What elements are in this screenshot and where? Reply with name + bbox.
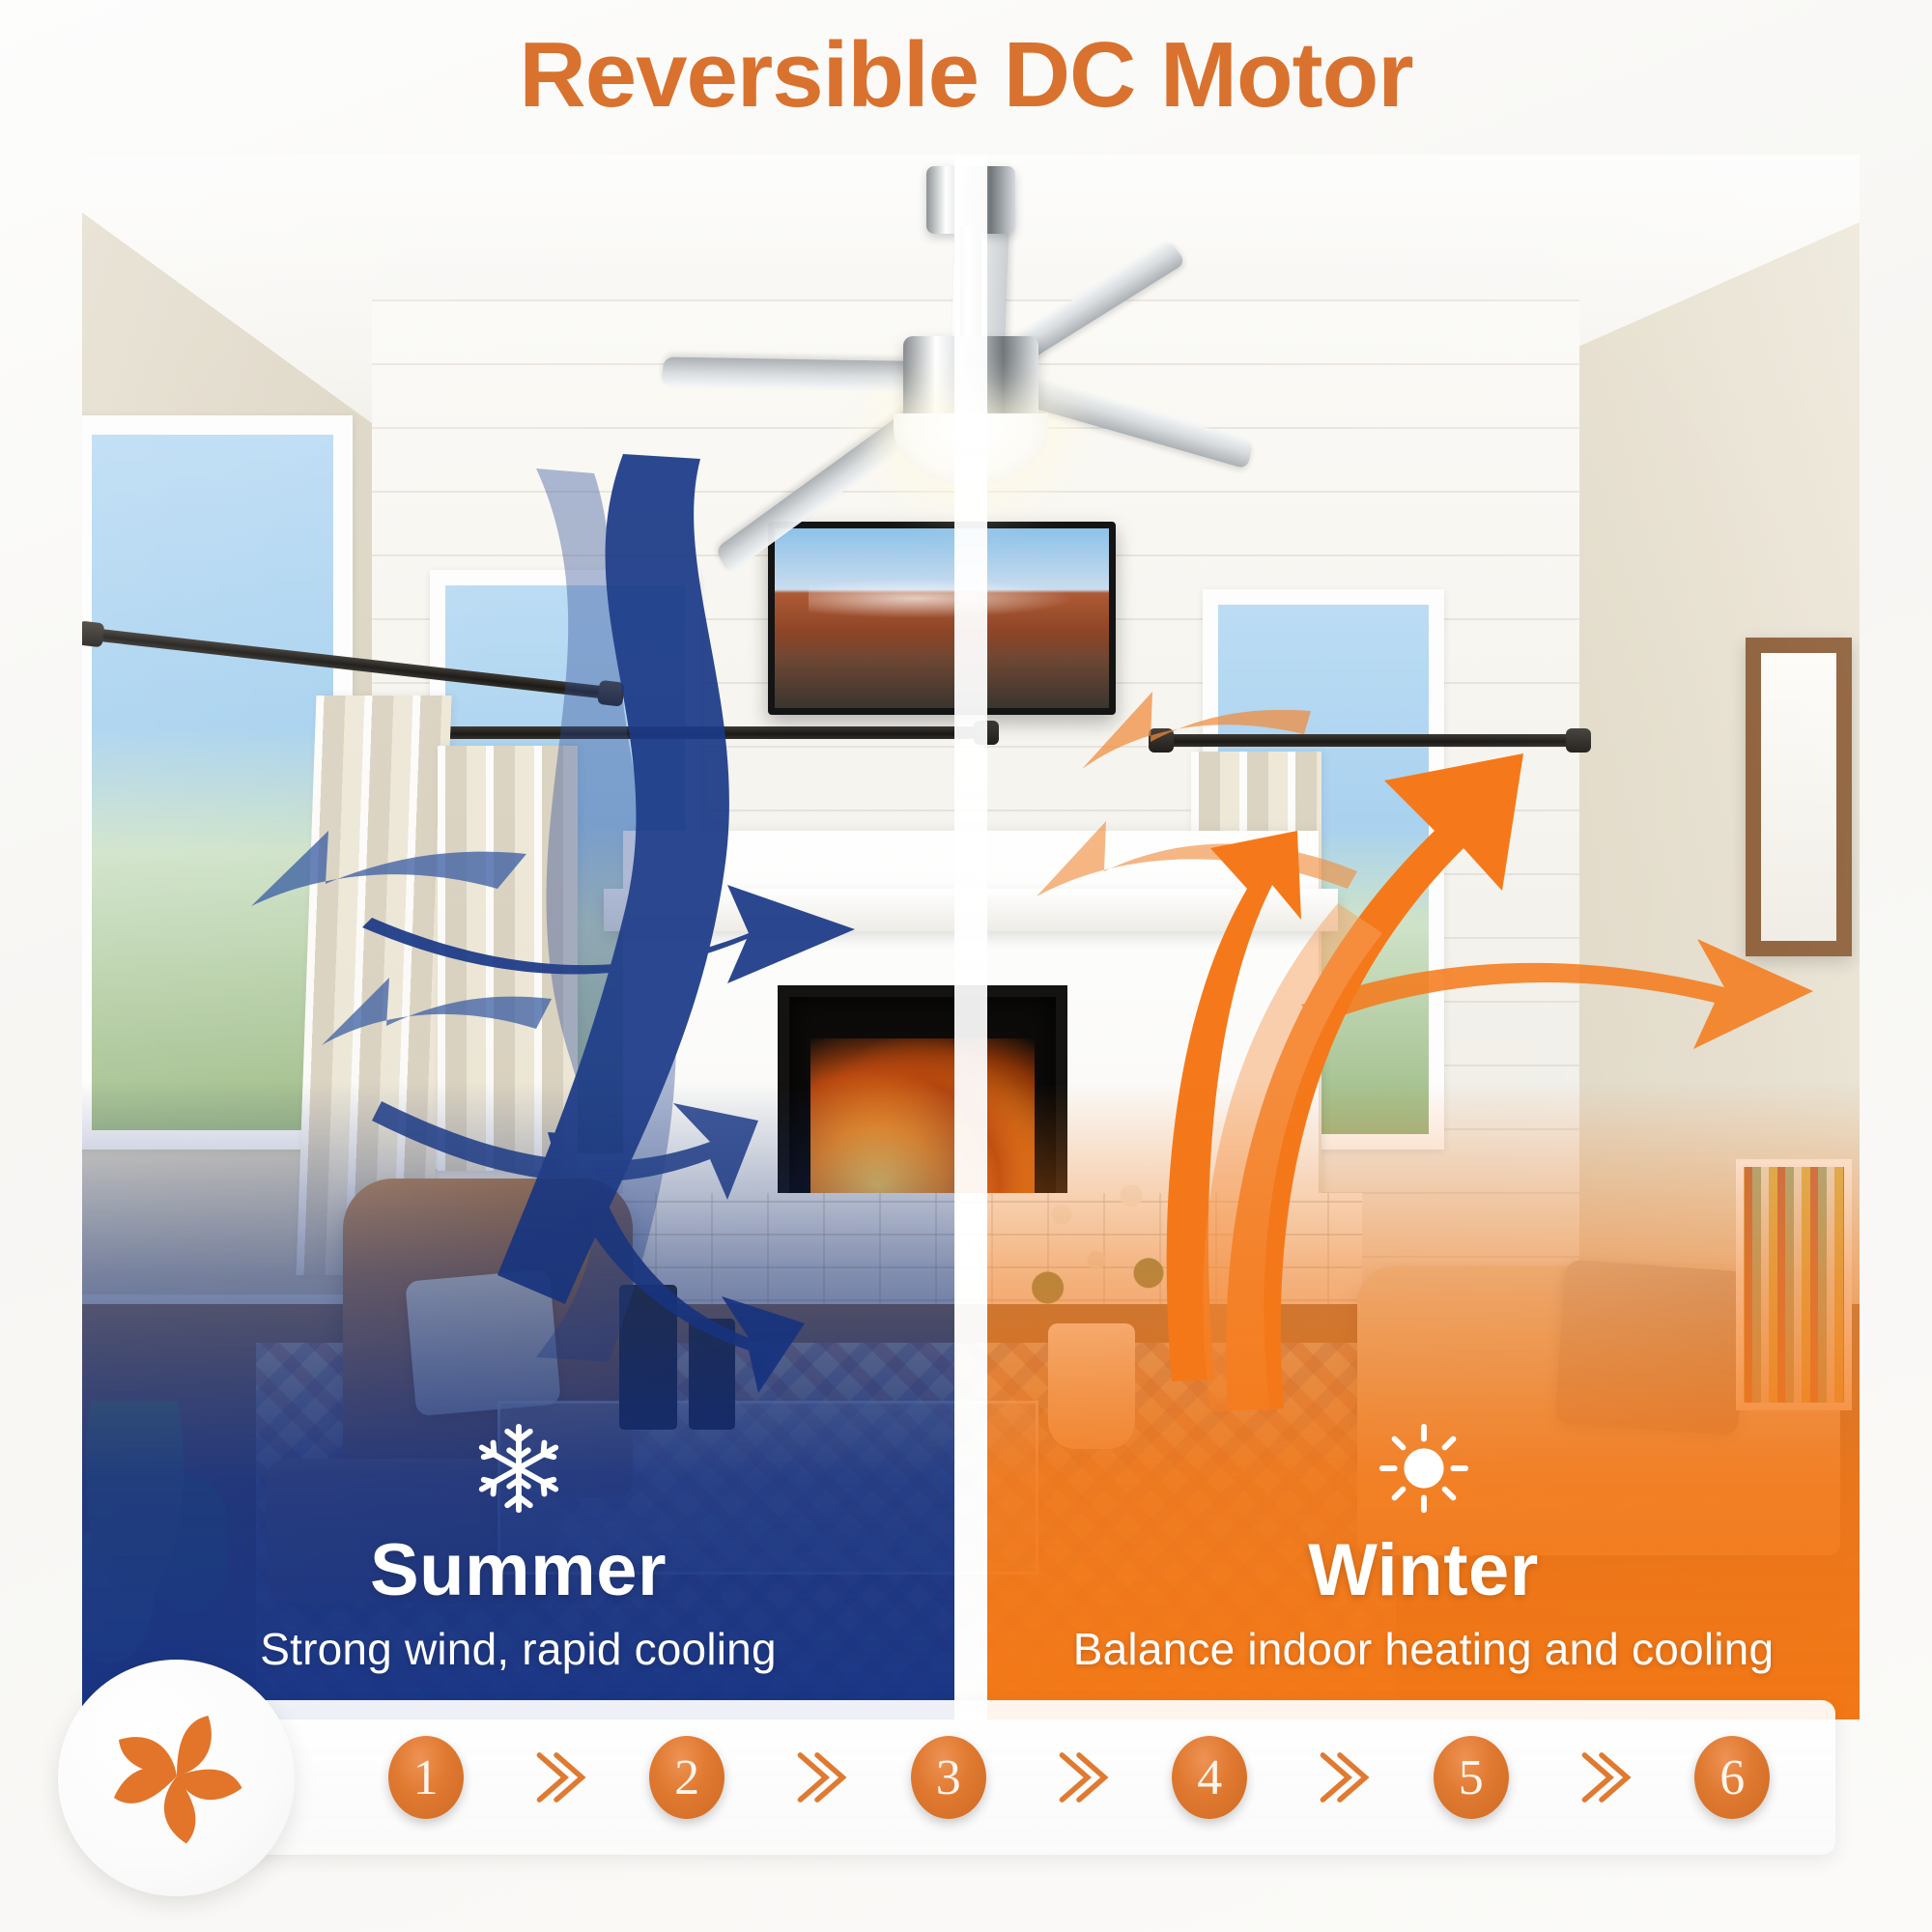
sun-icon [1377,1421,1471,1520]
framed-wall-art [1746,638,1852,956]
speed-step-4[interactable]: 4 [1172,1736,1247,1819]
summer-panel: Summer Strong wind, rapid cooling [82,1082,954,1719]
curtain-rod-middle [415,726,985,739]
fan-pinwheel-icon [104,1706,249,1851]
wall-mounted-tv [768,522,1116,715]
curtain-rod-right [1162,734,1577,747]
winter-subtitle: Balance indoor heating and cooling [1073,1623,1774,1675]
infographic-page: Reversible DC Motor [0,0,1932,1932]
speed-steps: 1 2 3 4 [357,1700,1835,1855]
double-chevron-right-icon [1047,1739,1111,1816]
speed-step-5[interactable]: 5 [1434,1736,1509,1819]
speed-step-3[interactable]: 3 [911,1736,986,1819]
summer-title: Summer [370,1534,667,1607]
speed-step-1[interactable]: 1 [388,1736,464,1819]
winter-title: Winter [1308,1534,1539,1607]
fan-speed-bar: 1 2 3 4 [97,1700,1835,1855]
double-chevron-right-icon [785,1739,849,1816]
fan-speed-badge [58,1660,295,1896]
product-scene: Summer Strong wind, rapid cooling [82,155,1860,1719]
double-chevron-right-icon [1570,1739,1634,1816]
winter-panel: Winter Balance indoor heating and coolin… [987,1082,1860,1719]
speed-step-2[interactable]: 2 [649,1736,724,1819]
double-chevron-right-icon [525,1739,588,1816]
speed-step-6[interactable]: 6 [1694,1736,1770,1819]
page-title: Reversible DC Motor [0,23,1932,128]
center-divider [954,155,987,1719]
summer-subtitle: Strong wind, rapid cooling [260,1623,777,1675]
snowflake-icon [471,1421,566,1520]
tv-screen-image [775,528,1109,708]
double-chevron-right-icon [1308,1739,1372,1816]
